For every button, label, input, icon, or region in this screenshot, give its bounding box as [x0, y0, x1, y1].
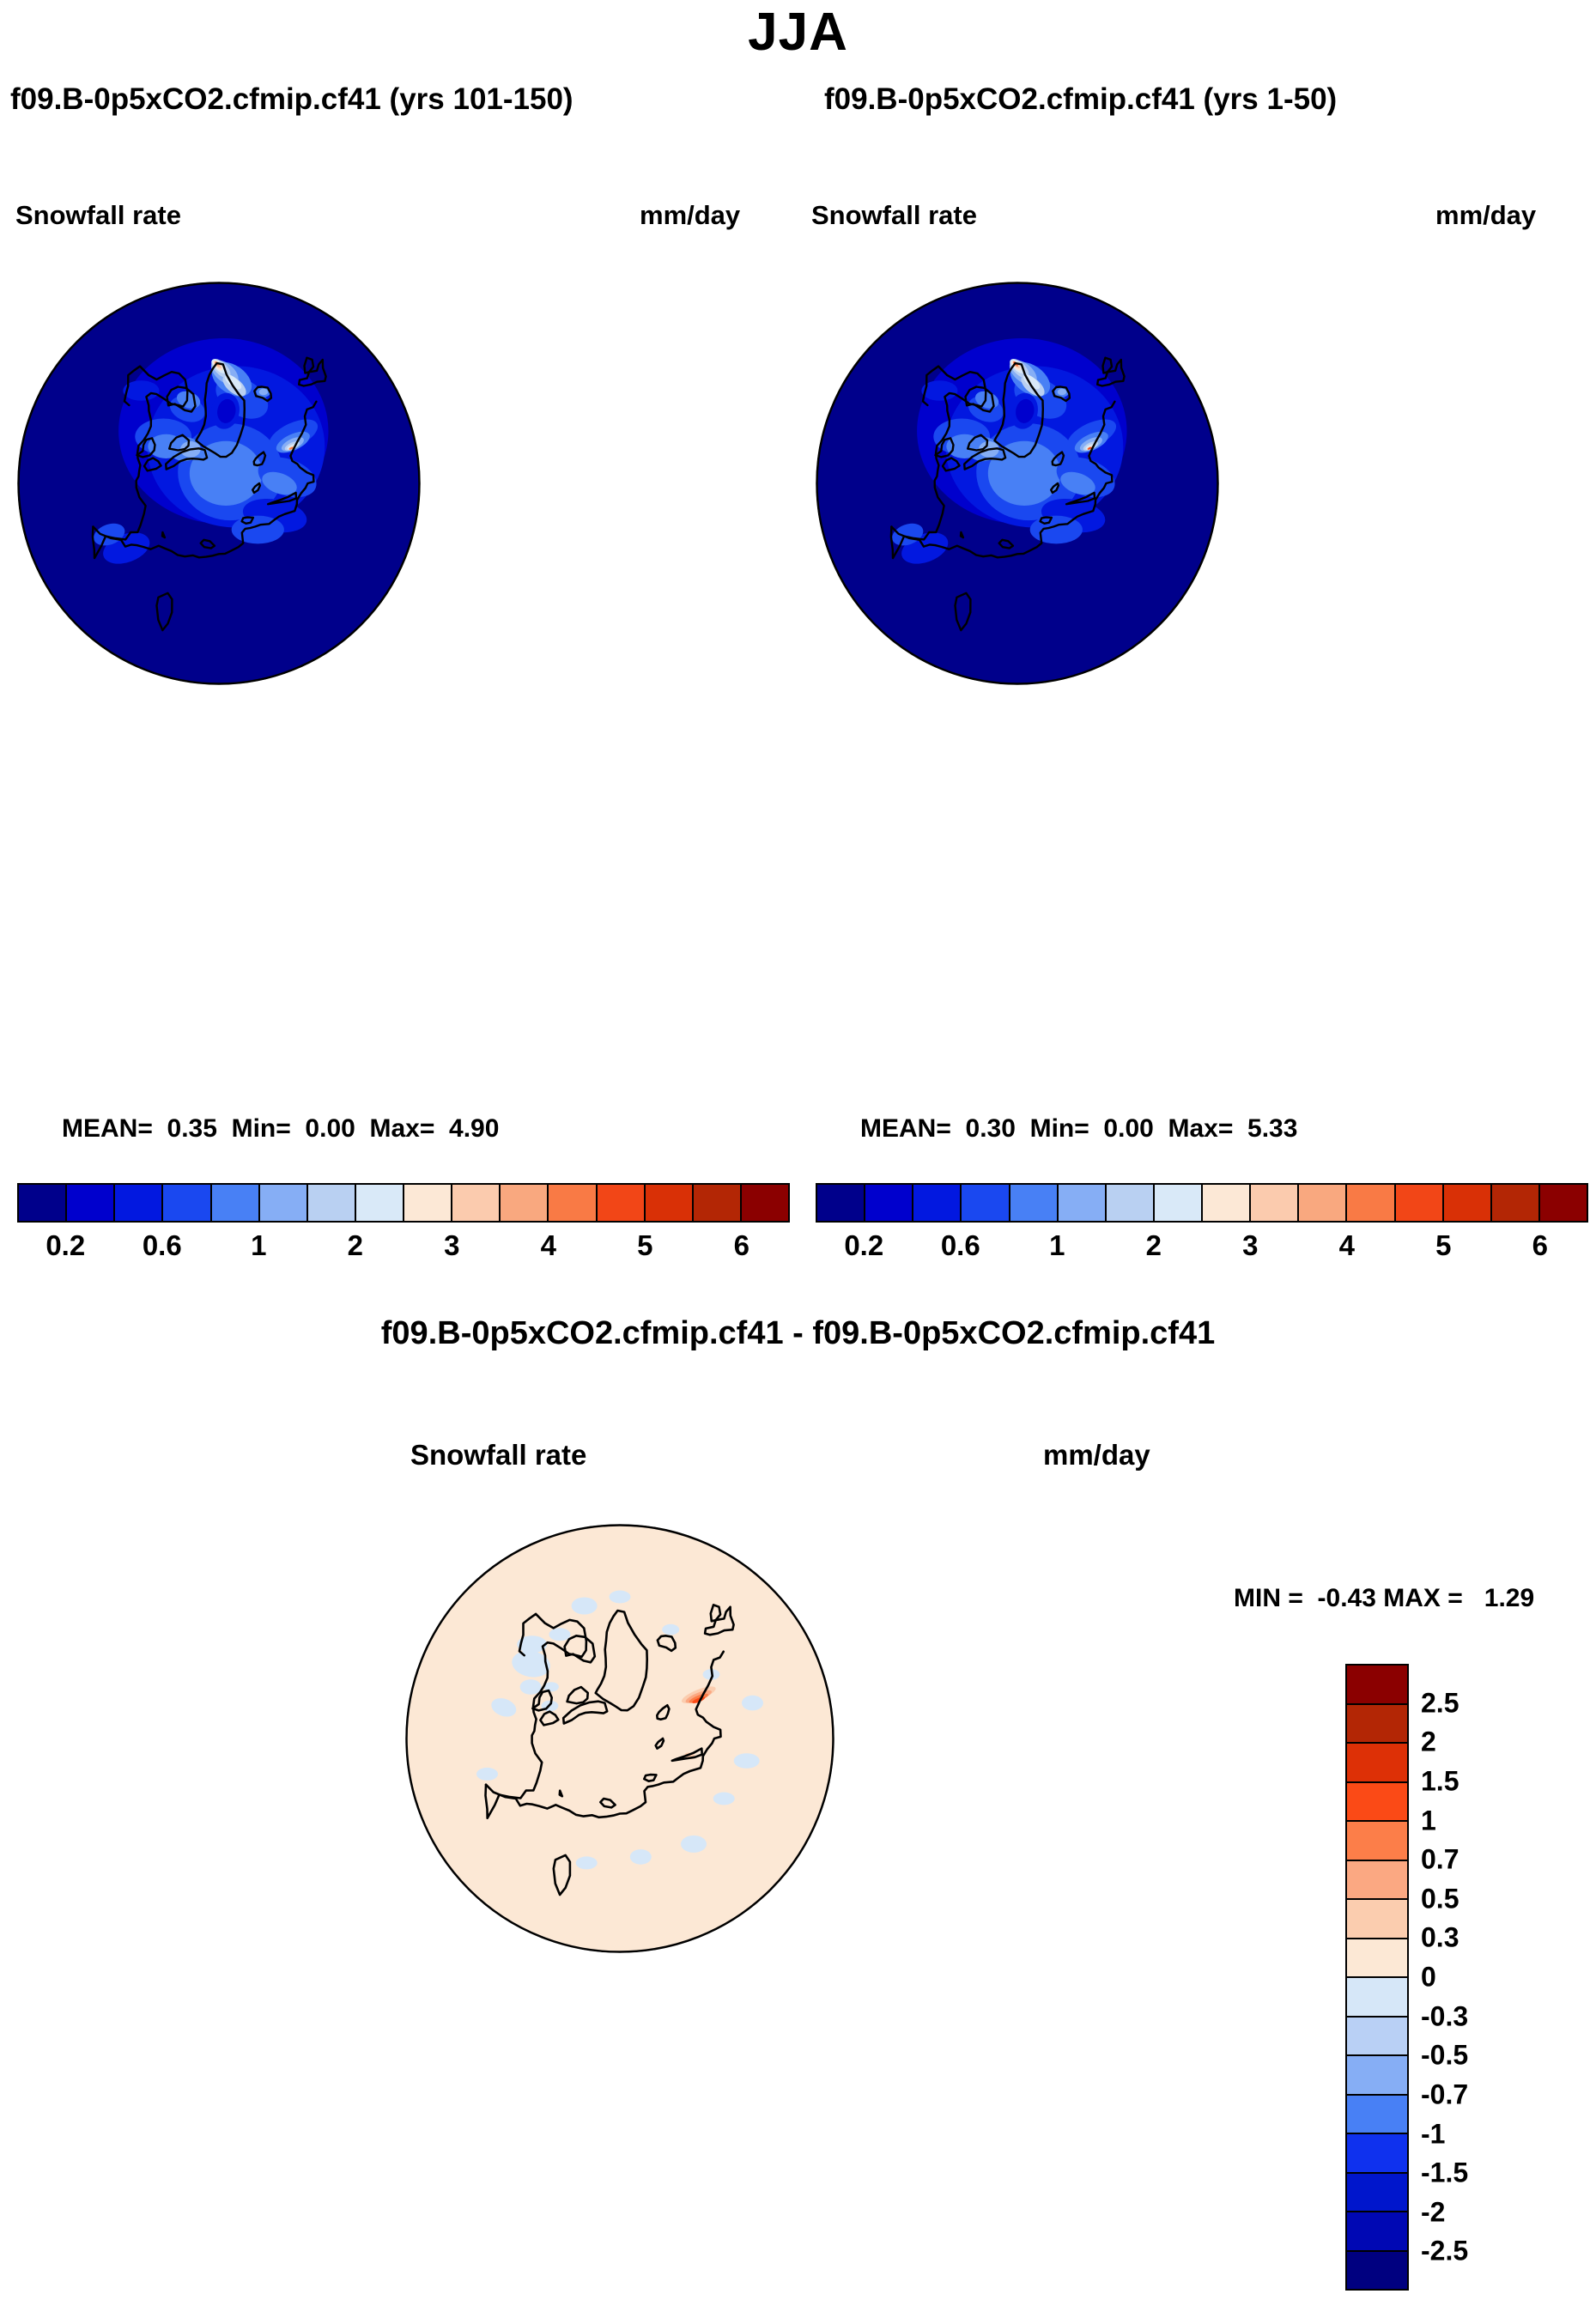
colorbar-cell [1347, 1783, 1407, 1823]
colorbar-tick-label: -0.3 [1421, 2000, 1468, 2032]
colorbar-cell [1155, 1185, 1203, 1221]
colorbar-cell [1347, 2252, 1407, 2290]
colorbar-tick-label: 6 [1532, 1229, 1548, 1262]
colorbar-cell [1492, 1185, 1540, 1221]
diff-panel-title: f09.B-0p5xCO2.cfmip.cf41 - f09.B-0p5xCO2… [0, 1315, 1596, 1352]
colorbar-tick-label: 0.2 [46, 1229, 85, 1262]
colorbar-tick-label: 6 [734, 1229, 749, 1262]
colorbar-cell [742, 1185, 788, 1221]
field-label-right: Snowfall rate [811, 200, 977, 231]
colorbar-tick-label: 1 [1421, 1805, 1436, 1836]
colorbar-tick-label: 0.7 [1421, 1844, 1459, 1876]
colorbar-vertical-ticks: 2.521.510.70.50.30-0.3-0.5-0.7-1-1.5-2-2… [1421, 1664, 1558, 2291]
colorbar-cell [404, 1185, 452, 1221]
field-label-left: Snowfall rate [15, 200, 181, 231]
colorbar-tick-label: 2 [348, 1229, 363, 1262]
colorbar-cell [1347, 1978, 1407, 2018]
colorbar-tick-label: 0 [1421, 1962, 1436, 1993]
colorbar-tick-label: 0.5 [1421, 1883, 1459, 1915]
colorbar-tick-label: -1 [1421, 2118, 1445, 2150]
colorbar-cell [1347, 2134, 1407, 2174]
colorbar-tick-label: 4 [1339, 1229, 1355, 1262]
colorbar-cell [865, 1185, 913, 1221]
colorbar-cell [452, 1185, 501, 1221]
colorbar-cell [1299, 1185, 1347, 1221]
colorbar-tick-label: 1 [1049, 1229, 1065, 1262]
diff-minmax-annotation: MIN = -0.43 MAX = 1.29 [1234, 1584, 1534, 1613]
colorbar-cell [212, 1185, 260, 1221]
colorbar-cell [1347, 1861, 1407, 1901]
colorbar-cell [1347, 1939, 1407, 1979]
units-label-left: mm/day [640, 200, 740, 231]
colorbar-cell [115, 1185, 163, 1221]
colorbar-cell [163, 1185, 211, 1221]
colorbar-tick-label: 1.5 [1421, 1765, 1459, 1797]
colorbar-cell [1347, 2096, 1407, 2135]
colorbar-cell [1347, 1900, 1407, 1939]
colorbar-cell [1347, 1822, 1407, 1861]
polar-map-difference [405, 1524, 834, 1953]
colorbar-cell [913, 1185, 962, 1221]
season-title: JJA [0, 2, 1596, 63]
colorbar-cell [1347, 1666, 1407, 1705]
diff-field-label: Snowfall rate [410, 1439, 586, 1472]
colorbar-tick-label: 2 [1146, 1229, 1162, 1262]
colorbar-cell [1347, 2212, 1407, 2252]
colorbar-cell [1203, 1185, 1251, 1221]
colorbar-tick-label: 5 [1435, 1229, 1451, 1262]
colorbar-tick-label: 4 [541, 1229, 556, 1262]
colorbar-cell [1347, 2174, 1407, 2213]
colorbar-cell [598, 1185, 646, 1221]
colorbar-cell [1444, 1185, 1492, 1221]
colorbar-cell [646, 1185, 694, 1221]
colorbar-cell [1347, 1185, 1395, 1221]
colorbar-cell [356, 1185, 404, 1221]
colorbar-vertical-diff [1345, 1664, 1409, 2291]
units-label-right: mm/day [1435, 200, 1536, 231]
colorbar-tick-label: 1 [251, 1229, 266, 1262]
colorbar-cell [67, 1185, 115, 1221]
stats-right: MEAN= 0.30 Min= 0.00 Max= 5.33 [860, 1114, 1297, 1144]
colorbar-tick-label: 0.6 [143, 1229, 182, 1262]
polar-map-right [816, 282, 1219, 685]
polar-map-left [17, 282, 421, 685]
colorbar-tick-label: -2.5 [1421, 2236, 1468, 2267]
panel-title-left: f09.B-0p5xCO2.cfmip.cf41 (yrs 101-150) [10, 82, 573, 117]
colorbar-cell [1396, 1185, 1444, 1221]
colorbar-cell [1347, 2056, 1407, 2096]
colorbar-tick-label: 0.2 [844, 1229, 883, 1262]
colorbar-tick-label: 0.3 [1421, 1922, 1459, 1954]
colorbar-cell [1010, 1185, 1059, 1221]
colorbar-cell [694, 1185, 742, 1221]
colorbar-cell [260, 1185, 308, 1221]
colorbar-tick-label: 3 [1242, 1229, 1258, 1262]
diff-units-label: mm/day [1043, 1439, 1150, 1472]
colorbar-tick-label: -0.7 [1421, 2078, 1468, 2110]
colorbar-cell [1347, 1705, 1407, 1745]
colorbar-tick-label: 3 [444, 1229, 459, 1262]
colorbar-cell [1347, 1744, 1407, 1783]
colorbar-tick-label: 5 [637, 1229, 652, 1262]
colorbar-cell [817, 1185, 865, 1221]
colorbar-cell [501, 1185, 549, 1221]
colorbar-cell [1251, 1185, 1299, 1221]
colorbar-tick-label: 2.5 [1421, 1687, 1459, 1719]
colorbar-cell [1347, 2018, 1407, 2057]
colorbar-tick-label: -2 [1421, 2196, 1445, 2228]
colorbar-tick-label: 0.6 [941, 1229, 980, 1262]
colorbar-horizontal-right [816, 1183, 1588, 1223]
colorbar-tick-label: -1.5 [1421, 2157, 1468, 2189]
colorbar-cell [549, 1185, 597, 1221]
colorbar-cell [19, 1185, 67, 1221]
stats-left: MEAN= 0.35 Min= 0.00 Max= 4.90 [62, 1114, 499, 1144]
colorbar-ticks-left: 0.20.6123456 [17, 1229, 790, 1269]
colorbar-tick-label: 2 [1421, 1726, 1436, 1758]
colorbar-ticks-right: 0.20.6123456 [816, 1229, 1588, 1269]
colorbar-cell [1107, 1185, 1155, 1221]
colorbar-horizontal-left [17, 1183, 790, 1223]
colorbar-tick-label: -0.5 [1421, 2040, 1468, 2072]
colorbar-cell [1540, 1185, 1587, 1221]
panel-title-right: f09.B-0p5xCO2.cfmip.cf41 (yrs 1-50) [824, 82, 1337, 117]
colorbar-cell [962, 1185, 1010, 1221]
colorbar-cell [308, 1185, 356, 1221]
colorbar-cell [1059, 1185, 1107, 1221]
